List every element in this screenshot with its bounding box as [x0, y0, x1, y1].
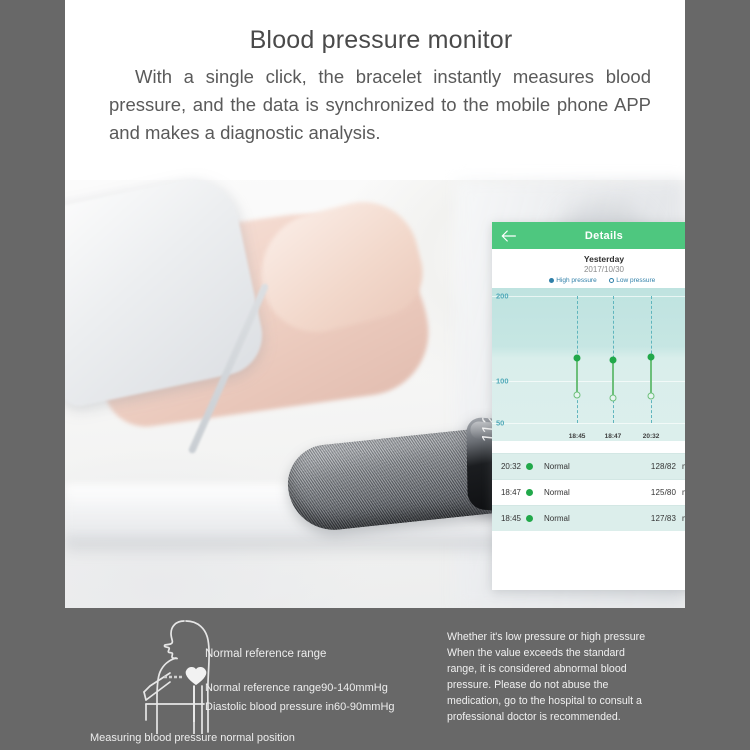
chart-legend: High pressure Low pressure [492, 277, 685, 284]
row-value: 128/82 [651, 462, 682, 471]
hero-paragraph: With a single click, the bracelet instan… [91, 63, 657, 147]
chart-gridline [492, 296, 685, 297]
hero-panel: 112/70 mmHg Blood pressure monitor With … [65, 0, 685, 608]
hero-text: Blood pressure monitor With a single cli… [91, 26, 657, 147]
chart-gridline [492, 423, 685, 424]
filled-dot-icon [549, 278, 554, 283]
table-row[interactable]: 18:45Normal127/83mmHg [492, 505, 685, 531]
reference-range-block: Normal reference range Normal reference … [205, 648, 395, 713]
row-status: Normal [533, 514, 651, 523]
date-label: 2017/10/30 [492, 265, 685, 274]
legend-item-low-pressure: Low pressure [609, 277, 656, 284]
advisory-note: Whether it's low pressure or high pressu… [447, 629, 697, 726]
advisory-note-line: range, it is considered abnormal blood [447, 661, 697, 677]
app-header-bar: Details [492, 222, 685, 249]
row-value: 125/80 [651, 488, 682, 497]
chart-point-low[interactable] [574, 392, 581, 399]
advisory-note-line: pressure. Please do not abuse the [447, 677, 697, 693]
page-title: Blood pressure monitor [91, 26, 657, 55]
row-value: 127/83 [651, 514, 682, 523]
reference-diastolic: Diastolic blood pressure in60-90mmHg [205, 701, 395, 713]
advisory-note-line: professional doctor is recommended. [447, 709, 697, 725]
legend-item-high-pressure: High pressure [549, 277, 597, 284]
bp-chart: 5010020018:4518:4720:32 [492, 288, 685, 441]
row-time: 18:47 [492, 488, 526, 497]
row-unit: mmHg [682, 488, 685, 497]
photo-desk-shadow [65, 540, 515, 556]
day-label: Yesterday [492, 254, 685, 264]
chart-gridline [492, 381, 685, 382]
open-dot-icon [609, 278, 614, 283]
chart-range-bar [576, 358, 577, 395]
row-time: 18:45 [492, 514, 526, 523]
row-time: 20:32 [492, 462, 526, 471]
back-arrow-icon[interactable] [501, 229, 516, 242]
status-dot-icon [526, 463, 533, 470]
chart-point-high[interactable] [648, 353, 655, 360]
advisory-note-line: When the value exceeds the standard [447, 645, 697, 661]
row-unit: mmHg [682, 462, 685, 471]
heart-shape [186, 667, 206, 684]
x-axis-tick-20:32: 20:32 [643, 433, 660, 440]
chart-point-high[interactable] [574, 354, 581, 361]
x-axis-tick-18:47: 18:47 [605, 433, 622, 440]
y-axis-tick-50: 50 [496, 419, 504, 428]
row-status: Normal [533, 488, 651, 497]
table-row[interactable]: 18:47Normal125/80mmHg [492, 479, 685, 505]
chart-point-high[interactable] [609, 356, 616, 363]
chart-point-low[interactable] [609, 394, 616, 401]
y-axis-tick-100: 100 [496, 376, 509, 385]
screenshot-root: 112/70 mmHg Blood pressure monitor With … [0, 0, 750, 750]
row-status: Normal [533, 462, 651, 471]
phone-app-card: Details Yesterday 2017/10/30 High pressu… [492, 222, 685, 590]
app-date-header: Yesterday 2017/10/30 [492, 249, 685, 274]
reference-systolic: Normal reference range90-140mmHg [205, 682, 395, 694]
bottom-info-band: Normal reference range Normal reference … [0, 608, 750, 750]
x-axis-tick-18:45: 18:45 [569, 433, 586, 440]
chart-range-bar [612, 360, 613, 398]
reference-title: Normal reference range [205, 648, 395, 660]
hero-paragraph-text: With a single click, the bracelet instan… [109, 66, 651, 143]
table-row[interactable]: 20:32Normal128/82mmHg [492, 453, 685, 479]
app-title: Details [492, 230, 685, 242]
advisory-note-line: Whether it's low pressure or high pressu… [447, 629, 697, 645]
advisory-note-line: medication, go to the hospital to consul… [447, 693, 697, 709]
legend-label-low: Low pressure [616, 277, 655, 284]
chart-range-bar [650, 357, 651, 396]
vertical-divider [193, 686, 195, 722]
figure-caption: Measuring blood pressure normal position [90, 732, 295, 744]
y-axis-tick-200: 200 [496, 292, 509, 301]
row-unit: mmHg [682, 514, 685, 523]
chart-point-low[interactable] [648, 392, 655, 399]
legend-label-high: High pressure [556, 277, 596, 284]
status-dot-icon [526, 515, 533, 522]
measurement-table: 20:32Normal128/82mmHg18:47Normal125/80mm… [492, 453, 685, 531]
status-dot-icon [526, 489, 533, 496]
